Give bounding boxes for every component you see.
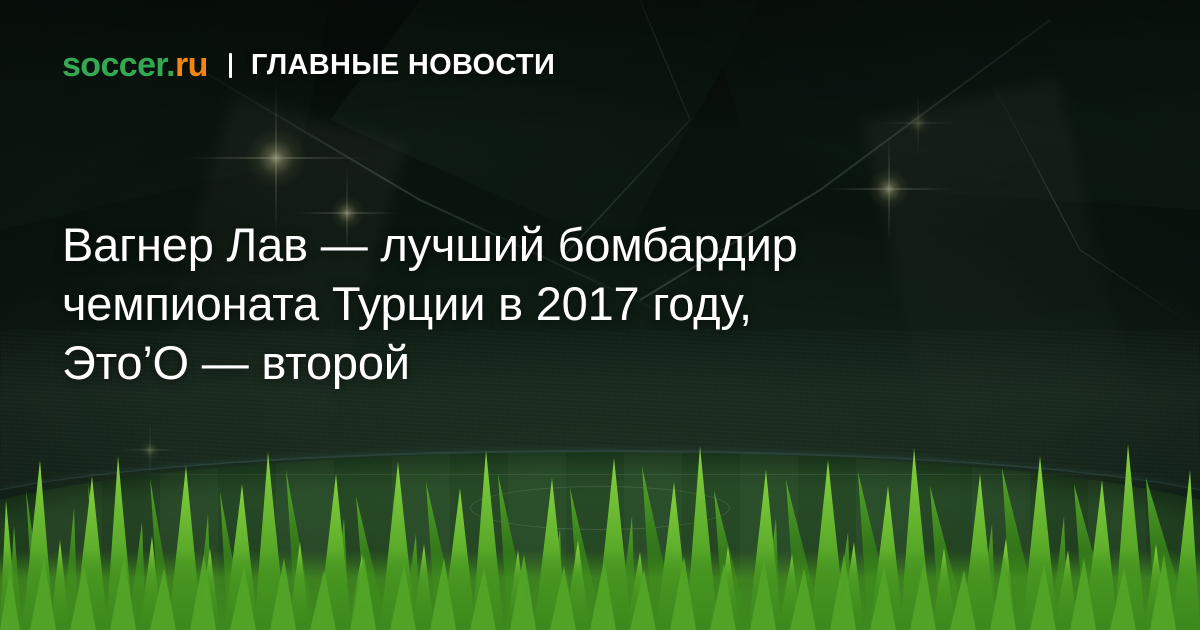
- logo-tld-text: ru: [175, 46, 208, 84]
- card-header: soccer.ru ГЛАВНЫЕ НОВОСТИ: [62, 48, 555, 82]
- section-title: ГЛАВНЫЕ НОВОСТИ: [251, 51, 555, 80]
- header-separator-icon: [229, 53, 232, 78]
- logo-dot: .: [166, 46, 175, 84]
- soccer-ru-logo[interactable]: soccer.ru: [62, 48, 208, 82]
- logo-brand-text: soccer: [62, 46, 166, 84]
- social-share-card: soccer.ru ГЛАВНЫЕ НОВОСТИ Вагнер Лав — л…: [0, 0, 1200, 630]
- headline-line-2: чемпионата Турции в 2017 году,: [62, 274, 1072, 333]
- headline-line-1: Вагнер Лав — лучший бомбардир: [62, 215, 1072, 274]
- headline: Вагнер Лав — лучший бомбардир чемпионата…: [62, 215, 1072, 392]
- headline-line-3: Это’О — второй: [62, 333, 1072, 392]
